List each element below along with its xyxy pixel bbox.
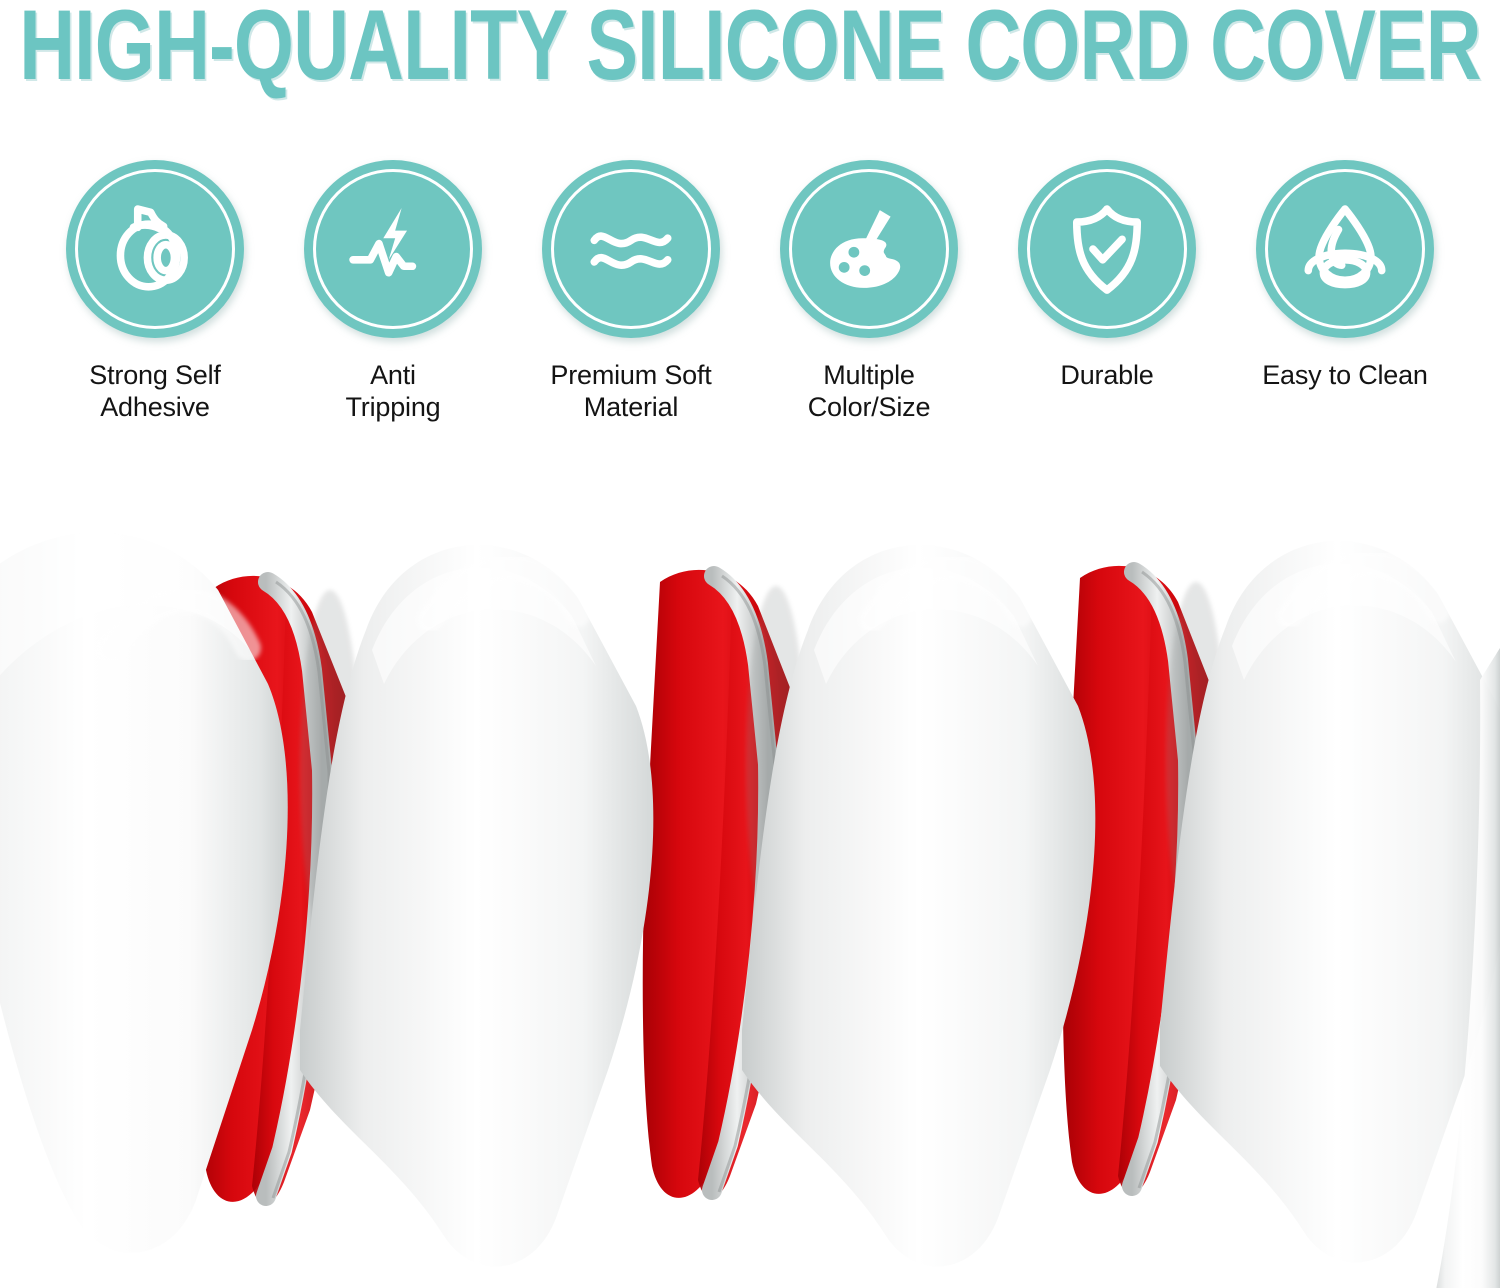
page-title: HIGH-QUALITY SILICONE CORD COVER bbox=[19, 0, 1481, 91]
feature-badge-circle bbox=[304, 160, 482, 338]
feature-list: Strong Self Adhesive Anti Tripping Premi… bbox=[0, 160, 1500, 450]
page-title-container: HIGH-QUALITY SILICONE CORD COVER bbox=[0, 0, 1500, 95]
feature-badge-circle bbox=[1018, 160, 1196, 338]
feature-badge-circle bbox=[66, 160, 244, 338]
feature-badge-circle bbox=[542, 160, 720, 338]
wavy-lines-icon bbox=[577, 195, 685, 303]
feature-badge-circle bbox=[780, 160, 958, 338]
lightning-pulse-icon bbox=[339, 195, 447, 303]
feature-badge-circle bbox=[1256, 160, 1434, 338]
product-photo bbox=[0, 470, 1500, 1288]
feature-label: Multiple Color/Size bbox=[808, 360, 931, 424]
feature-item-premium-soft-material: Premium Soft Material bbox=[542, 160, 720, 424]
feature-item-easy-to-clean: Easy to Clean bbox=[1256, 160, 1434, 392]
feature-label: Premium Soft Material bbox=[550, 360, 711, 424]
feature-item-durable: Durable bbox=[1018, 160, 1196, 392]
water-droplet-icon bbox=[1291, 195, 1399, 303]
tape-roll-icon bbox=[101, 195, 209, 303]
feature-item-anti-tripping: Anti Tripping bbox=[304, 160, 482, 424]
feature-label: Easy to Clean bbox=[1262, 360, 1428, 392]
feature-item-strong-self-adhesive: Strong Self Adhesive bbox=[66, 160, 244, 424]
paint-palette-icon bbox=[815, 195, 923, 303]
shield-check-icon bbox=[1053, 195, 1161, 303]
feature-label: Anti Tripping bbox=[346, 360, 441, 424]
silicone-cord-cover-coil-illustration bbox=[0, 470, 1500, 1288]
feature-label: Strong Self Adhesive bbox=[89, 360, 220, 424]
feature-label: Durable bbox=[1060, 360, 1153, 392]
feature-item-multiple-color-size: Multiple Color/Size bbox=[780, 160, 958, 424]
product-feature-banner: HIGH-QUALITY SILICONE CORD COVER Strong … bbox=[0, 0, 1500, 1288]
